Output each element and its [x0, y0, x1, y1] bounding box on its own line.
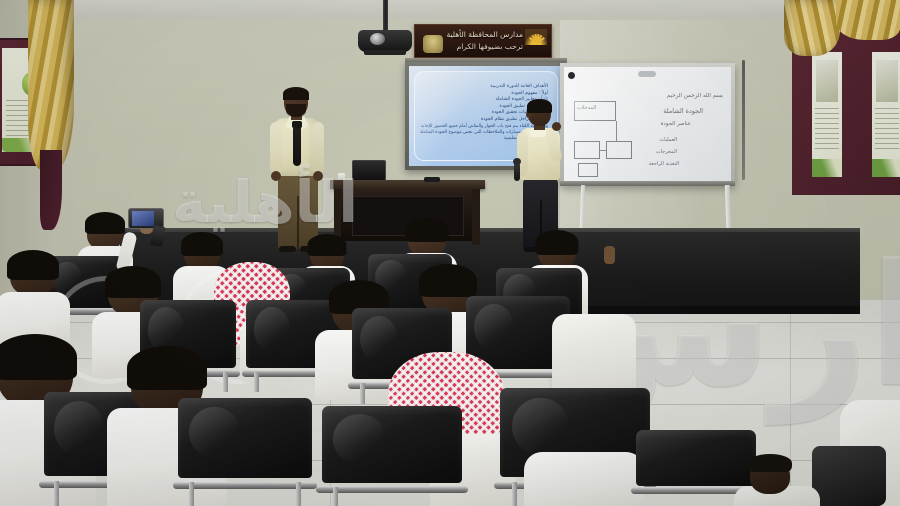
beard [286, 104, 306, 117]
chair-leg [512, 482, 517, 506]
hair [406, 218, 449, 242]
audience-chair [178, 398, 312, 506]
projector-lens-icon [370, 33, 385, 45]
right-poster-strip [812, 52, 842, 177]
arm-left [270, 122, 282, 174]
right-poster-strip [872, 52, 900, 177]
hair [419, 264, 477, 297]
hair [127, 346, 207, 390]
desk-remote [424, 177, 440, 182]
chair-rail [316, 486, 467, 493]
whiteboard-marker-tray [560, 181, 735, 186]
poster-image [816, 60, 838, 102]
gold-curtain-left [28, 0, 74, 170]
hair [181, 232, 223, 256]
chair-highlight [189, 407, 240, 459]
person-bottom-right [740, 452, 810, 506]
gold-curtain-right [784, 0, 840, 56]
trouser-seam [297, 196, 299, 249]
presenter-standing [262, 88, 336, 252]
hair [527, 99, 552, 113]
gold-curtain-far-right [836, 0, 900, 40]
chair-leg [333, 487, 338, 506]
chair-highlight [512, 398, 569, 456]
sun-emblem-icon [525, 29, 547, 45]
poster-text-lines [815, 108, 839, 152]
hair [536, 230, 579, 255]
poster-footer-graphic [872, 159, 900, 177]
shoe-left [279, 246, 296, 252]
hair [7, 250, 59, 280]
hair [105, 266, 161, 298]
chair-leg [254, 372, 259, 392]
chair-leg [189, 482, 194, 506]
hair [85, 212, 125, 234]
chair-highlight [254, 307, 290, 351]
poster-image [876, 60, 898, 102]
curtain-backing-left [40, 150, 62, 230]
presenter-desk-top [330, 180, 485, 189]
banner-line-2: ترحب بضيوفها الكرام [457, 42, 523, 51]
hair [748, 454, 792, 472]
audience-chair [322, 406, 462, 506]
photo-scene: مدارس المحافظة الأهلية ترحب بضيوفها الكر… [0, 0, 900, 506]
chair-far-right [812, 446, 886, 506]
arm-right [312, 122, 324, 174]
welcome-banner: مدارس المحافظة الأهلية ترحب بضيوفها الكر… [414, 24, 552, 58]
chair-back [636, 430, 756, 486]
hair [308, 234, 347, 256]
student [556, 294, 632, 402]
laptop-screen [352, 160, 386, 181]
chair-highlight [148, 307, 184, 351]
chair-highlight [474, 304, 514, 351]
chair-leg [223, 372, 228, 392]
hand-holding-phone [604, 246, 615, 264]
hand-right [313, 171, 323, 181]
banner-line-1: مدارس المحافظة الأهلية [446, 30, 523, 39]
whiteboard-brand-logo [638, 71, 656, 77]
hanging-cable [742, 60, 745, 180]
hand-left [271, 171, 281, 181]
ceiling-projector [358, 30, 412, 52]
student-shoulder [524, 452, 644, 506]
chair-leg [54, 481, 59, 506]
projector-mount-pole [383, 0, 388, 32]
chair-leg [360, 383, 365, 404]
chair-highlight [54, 401, 103, 456]
whiteboard-glare [564, 67, 731, 181]
poster-footer-graphic [812, 159, 842, 177]
school-crest-icon [423, 35, 443, 53]
whiteboard-magnet-icon [568, 72, 575, 79]
necktie [293, 124, 301, 166]
hair [0, 334, 77, 380]
desk-leg-right [472, 189, 480, 245]
chair-leg [296, 482, 301, 506]
hair [283, 87, 309, 100]
necktie-knot [292, 121, 302, 128]
camera-screen-icon [132, 211, 154, 226]
poster-text-lines [875, 108, 899, 152]
presenter-at-whiteboard [512, 100, 574, 252]
projector-base [364, 50, 406, 55]
hand-pointing [552, 122, 561, 131]
microphone-head-icon [513, 158, 521, 165]
